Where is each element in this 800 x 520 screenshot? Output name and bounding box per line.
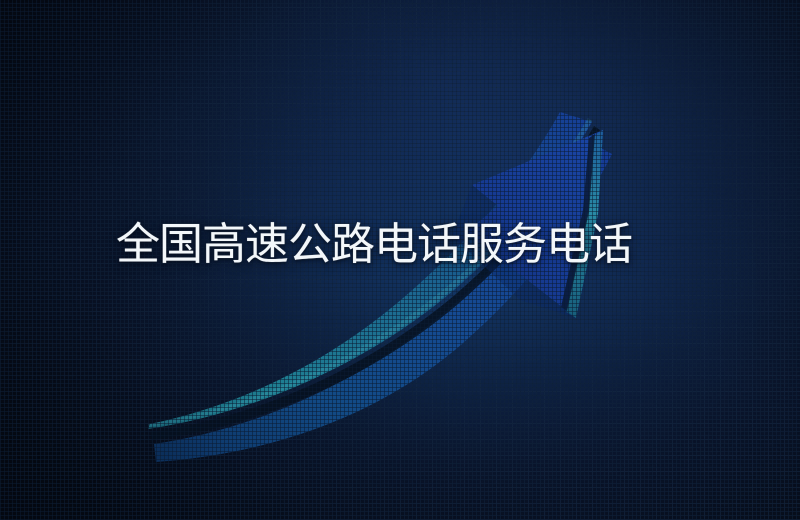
page-title-text: 全国高速公路电话服务电话	[116, 222, 632, 268]
poster-canvas: 全国高速公路电话服务电话	[0, 0, 800, 520]
page-title: 全国高速公路电话服务电话	[116, 214, 716, 276]
